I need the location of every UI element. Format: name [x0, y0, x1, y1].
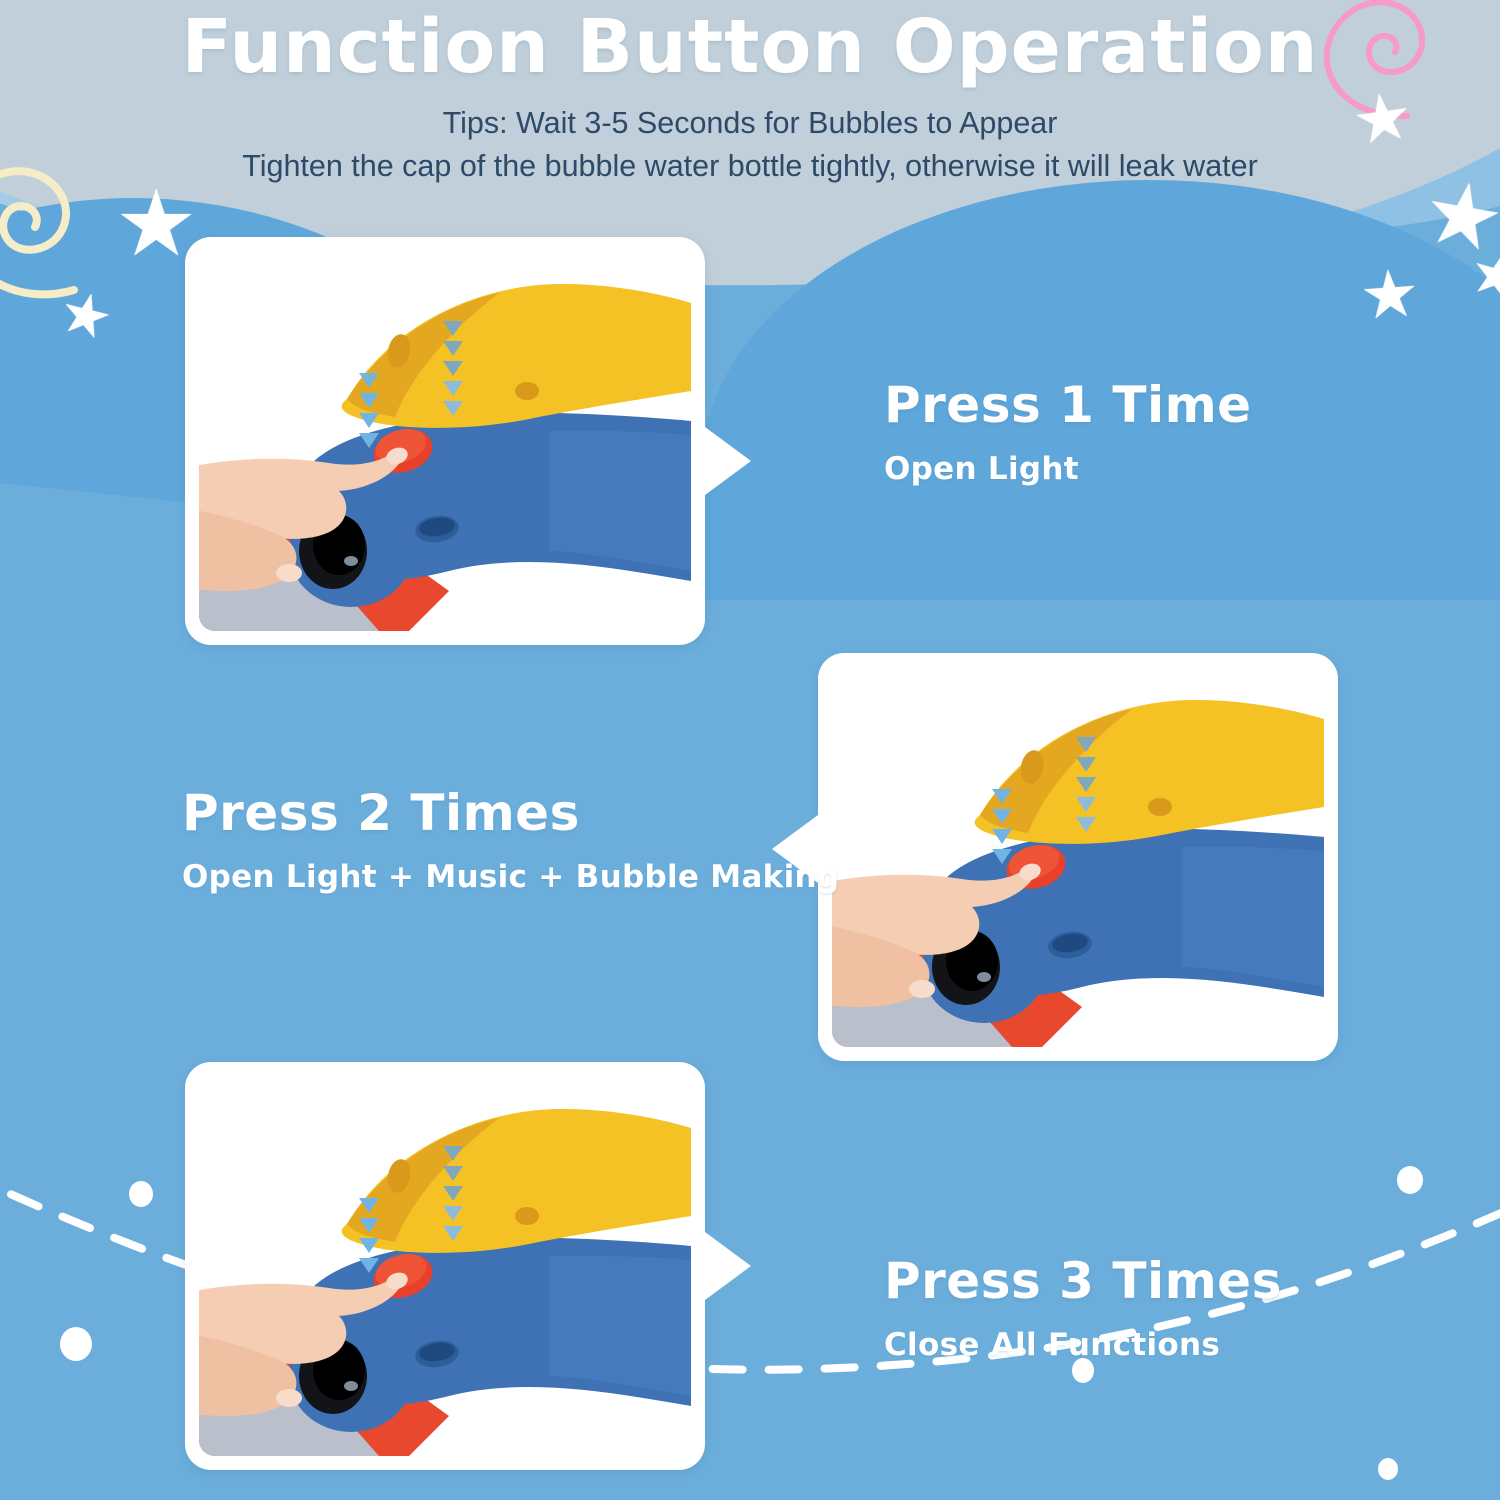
step-1-title: Press 1 Time — [884, 378, 1252, 433]
step-3-subtitle: Close All Functions — [884, 1327, 1282, 1364]
whale-bubble-machine-illustration — [832, 667, 1324, 1047]
step-3-title: Press 3 Times — [884, 1254, 1282, 1309]
step-3-caption: Press 3 Times Close All Functions — [884, 1254, 1282, 1364]
infographic-canvas: ★ ★ ★ ★ ★ ★ Function Button Operation Ti… — [0, 0, 1500, 1500]
step-3-photo — [199, 1076, 691, 1456]
whale-bubble-machine-illustration — [199, 1076, 691, 1456]
step-1-photo — [199, 251, 691, 631]
step-2-caption: Press 2 Times Open Light + Music + Bubbl… — [182, 786, 839, 896]
whale-bubble-machine-illustration — [199, 251, 691, 631]
step-2-title: Press 2 Times — [182, 786, 839, 841]
step-3-pointer-arrow — [705, 1232, 751, 1300]
header: Function Button Operation Tips: Wait 3-5… — [0, 0, 1500, 189]
step-1-pointer-arrow — [705, 427, 751, 495]
star-icon: ★ — [1358, 260, 1422, 330]
step-2-subtitle: Open Light + Music + Bubble Making — [182, 859, 839, 896]
step-1-caption: Press 1 Time Open Light — [884, 378, 1252, 488]
tips-line-2: Tighten the cap of the bubble water bott… — [0, 145, 1500, 188]
step-2-photo-card — [818, 653, 1338, 1061]
tips-block: Tips: Wait 3-5 Seconds for Bubbles to Ap… — [0, 102, 1500, 189]
step-1-photo-card — [185, 237, 705, 645]
page-title: Function Button Operation — [0, 8, 1500, 88]
tips-line-1: Tips: Wait 3-5 Seconds for Bubbles to Ap… — [0, 102, 1500, 145]
step-3-photo-card — [185, 1062, 705, 1470]
step-1-subtitle: Open Light — [884, 451, 1252, 488]
step-2-photo — [832, 667, 1324, 1047]
